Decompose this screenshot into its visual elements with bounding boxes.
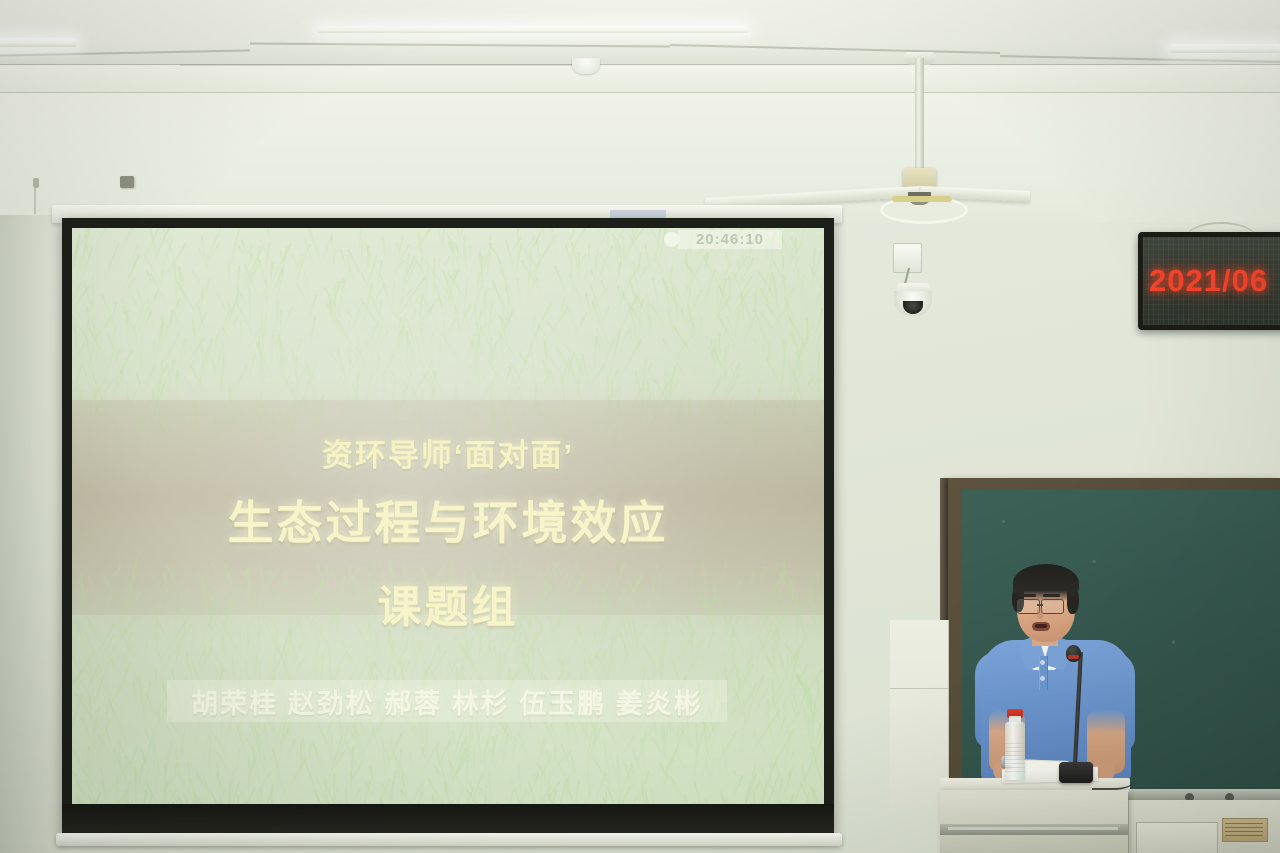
fluorescent-light xyxy=(0,38,76,47)
lecture-hall-scene: 2021/06 资环导师‘面对面’ 生态过程与环境效应 课题组 胡荣桂 赵劲松 xyxy=(0,0,1280,853)
microphone-head xyxy=(1066,645,1081,662)
shirt-button xyxy=(1040,660,1045,665)
wall-panel-seam xyxy=(890,688,948,689)
presentation-slide: 资环导师‘面对面’ 生态过程与环境效应 课题组 胡荣桂 赵劲松 郝蓉 林杉 伍玉… xyxy=(72,228,824,804)
mouth-inner xyxy=(1035,624,1047,628)
microphone-base xyxy=(1059,762,1093,783)
glasses-bridge xyxy=(1037,604,1043,606)
wall-bracket xyxy=(120,176,134,188)
fan-rod xyxy=(915,58,924,173)
fluorescent-light xyxy=(1170,44,1280,53)
podium xyxy=(940,790,1128,853)
slide-authors-band: 胡荣桂 赵劲松 郝蓉 林杉 伍玉鹏 姜炎彬 xyxy=(167,680,727,722)
ceiling-beam xyxy=(0,62,1280,93)
led-date-text: 2021/06 xyxy=(1149,263,1280,299)
label-plate-text xyxy=(1225,822,1263,836)
ceiling-seam xyxy=(180,64,600,66)
fan-band xyxy=(892,196,952,202)
smoke-detector xyxy=(572,58,600,74)
eyebrow-right xyxy=(1043,594,1060,597)
glasses-lens-right xyxy=(1041,599,1064,614)
projection-screen: 资环导师‘面对面’ 生态过程与环境效应 课题组 胡荣桂 赵劲松 郝蓉 林杉 伍玉… xyxy=(72,228,824,804)
wall-shadow xyxy=(0,215,70,853)
microphone-cable xyxy=(1092,772,1134,790)
fluorescent-light xyxy=(318,26,748,33)
wall-hook-wire xyxy=(34,188,36,214)
wall-upper xyxy=(0,92,1280,222)
wall-hook xyxy=(33,178,39,188)
led-date-sign: 2021/06 xyxy=(1138,232,1280,330)
shirt-button xyxy=(1040,676,1045,681)
housing-label xyxy=(610,210,666,218)
slide-title-line1: 生态过程与环境效应 xyxy=(228,487,669,553)
nose xyxy=(1037,608,1043,619)
slide-timestamp: 20:46:10 xyxy=(678,230,782,249)
bottle-ridges xyxy=(1005,742,1025,772)
slide-subtitle: 资环导师‘面对面’ xyxy=(322,430,574,475)
cabinet-drawer xyxy=(1136,822,1218,853)
slide-title-line2: 课题组 xyxy=(378,571,519,635)
eyebrow-left xyxy=(1019,594,1036,597)
timestamp-dot-icon xyxy=(664,232,679,247)
projection-screen-bottom-band xyxy=(62,804,834,834)
podium-rail-highlight xyxy=(948,827,1118,830)
slide-authors: 胡荣桂 赵劲松 郝蓉 林杉 伍玉鹏 姜炎彬 xyxy=(191,682,703,721)
projection-screen-weight-bar xyxy=(56,833,842,846)
microphone-indicator xyxy=(1068,655,1079,659)
